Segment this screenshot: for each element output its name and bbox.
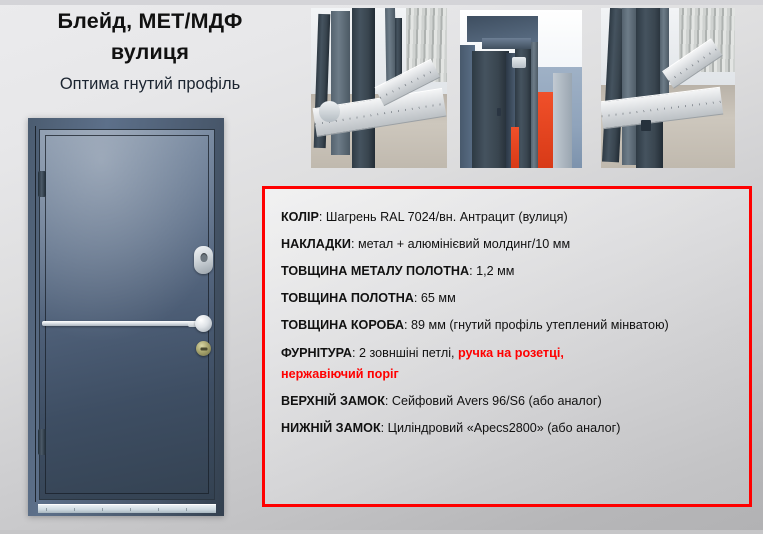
spec-row-leaf-metal-thickness: ТОВЩИНА МЕТАЛУ ПОЛОТНА: 1,2 мм (281, 263, 737, 279)
specification-list: КОЛІР: Шагрень RAL 7024/вн. Антрацит (ву… (281, 209, 737, 436)
spec-key: ВЕРХНІЙ ЗАМОК (281, 394, 385, 408)
spec-key: ТОВЩИНА ПОЛОТНА (281, 291, 414, 305)
door-leaf-edge (35, 126, 36, 502)
spec-row-bottom-lock: НИЖНІЙ ЗАМОК: Циліндровий «Apecs2800» (а… (281, 420, 737, 436)
spec-value: Сейфовий Avers 96/S6 (або аналог) (392, 394, 602, 408)
spec-value: 2 зовншіні петлі, (359, 346, 458, 360)
spec-sep: : (385, 394, 392, 408)
spec-value: 65 мм (421, 291, 456, 305)
spec-sep: : (319, 210, 326, 224)
spec-sep: : (351, 237, 358, 251)
spec-sep: : (381, 421, 388, 435)
open-door-profile-photo (460, 10, 582, 168)
door-leaf (39, 129, 215, 500)
spec-row-frame-thickness: ТОВЩИНА КОРОБА: 89 мм (гнутий профіль ут… (281, 317, 737, 333)
slide-canvas: Блейд, МЕТ/МДФ вулиця Оптима гнутий проф… (0, 0, 763, 534)
spec-sep: : (414, 291, 421, 305)
spec-value: 1,2 мм (476, 264, 514, 278)
specification-panel: КОЛІР: Шагрень RAL 7024/вн. Антрацит (ву… (262, 186, 752, 507)
page-subtitle: Оптима гнутий профіль (10, 74, 290, 95)
spec-key: КОЛІР (281, 210, 319, 224)
door-hinge-bottom (38, 429, 46, 455)
spec-value-highlight: ручка на розетці, (458, 346, 564, 360)
bottom-lock-cylinder (196, 341, 211, 356)
spec-value: метал + алюмінієвий молдинг/10 мм (358, 237, 570, 251)
door-frame-threshold-photo (311, 8, 447, 168)
spec-row-leaf-thickness: ТОВЩИНА ПОЛОТНА: 65 мм (281, 290, 737, 306)
top-band (0, 0, 763, 5)
spec-row-top-lock: ВЕРХНІЙ ЗАМОК: Сейфовий Avers 96/S6 (або… (281, 393, 737, 409)
stainless-threshold (38, 504, 216, 513)
spec-row-panels: НАКЛАДКИ: метал + алюмінієвий молдинг/10… (281, 236, 737, 252)
spec-value-highlight-continued: нержавіючий поріг (281, 366, 737, 382)
aluminium-molding-bar (42, 321, 198, 326)
page-title-line-2: вулиця (10, 37, 290, 68)
page-title-line-1: Блейд, МЕТ/МДФ (10, 6, 290, 37)
heading-block: Блейд, МЕТ/МДФ вулиця Оптима гнутий проф… (10, 6, 290, 95)
spec-sep: : (404, 318, 411, 332)
spec-key: НАКЛАДКИ (281, 237, 351, 251)
spec-key: НИЖНІЙ ЗАМОК (281, 421, 381, 435)
spec-key: ТОВЩИНА КОРОБА (281, 318, 404, 332)
handle-rosette (195, 315, 212, 332)
top-lock-escutcheon (194, 246, 213, 274)
spec-value: 89 мм (гнутий профіль утеплений мінватою… (411, 318, 669, 332)
frame-corner-threshold-photo (601, 8, 735, 168)
door-product-image (28, 118, 224, 516)
door-leaf-groove (45, 135, 209, 494)
spec-row-color: КОЛІР: Шагрень RAL 7024/вн. Антрацит (ву… (281, 209, 737, 225)
spec-sep: : (352, 346, 359, 360)
spec-key: ФУРНІТУРА (281, 346, 352, 360)
bottom-band (0, 530, 763, 534)
spec-key: ТОВЩИНА МЕТАЛУ ПОЛОТНА (281, 264, 469, 278)
spec-row-hardware: ФУРНІТУРА: 2 зовншіні петлі, ручка на ро… (281, 345, 737, 382)
spec-value: Шагрень RAL 7024/вн. Антрацит (вулиця) (326, 210, 568, 224)
spec-value: Циліндровий «Apecs2800» (або аналог) (388, 421, 621, 435)
door-hinge-top (38, 171, 46, 197)
